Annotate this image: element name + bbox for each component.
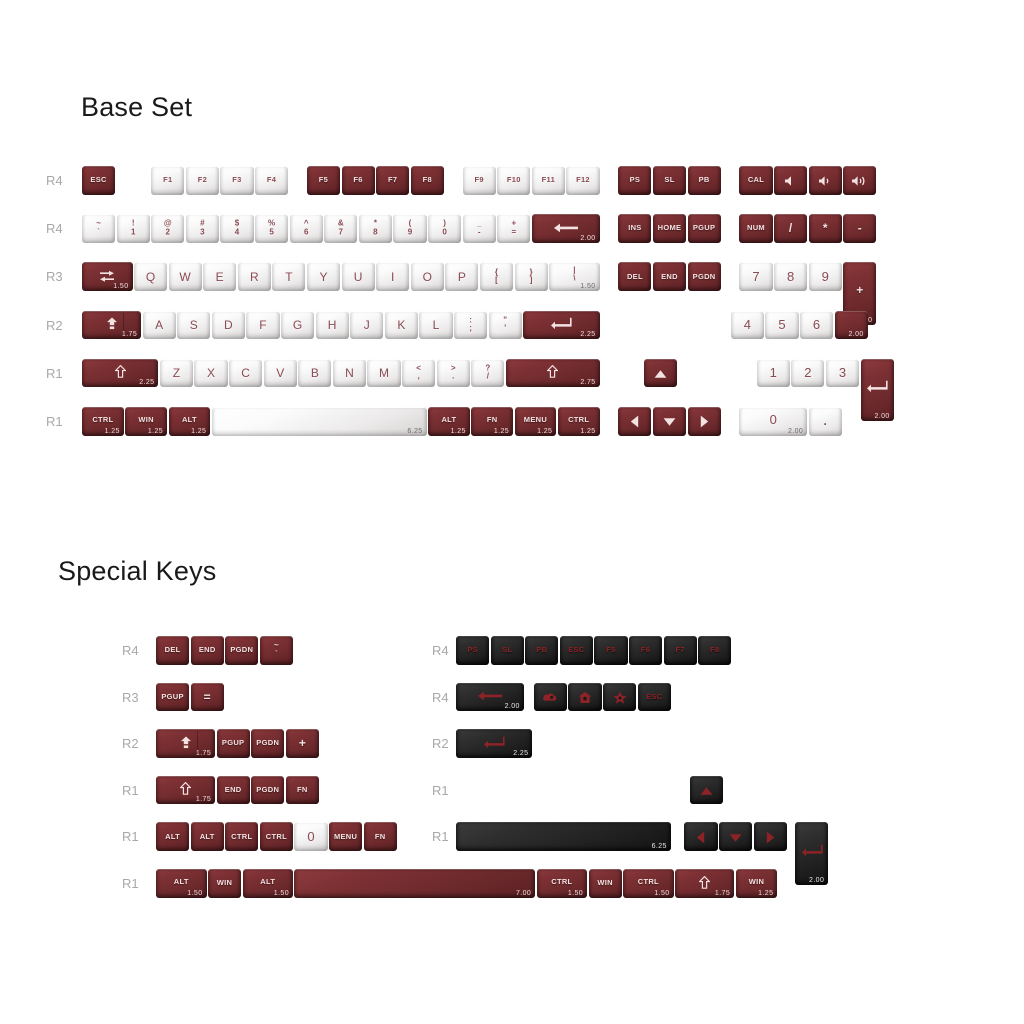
keycap-special-left-end[interactable]: END [191, 636, 224, 665]
keycap-face [156, 776, 215, 805]
keycap-face [364, 822, 397, 851]
keycap-face [350, 311, 383, 340]
keycap-base-d[interactable]: D [212, 311, 245, 340]
row-label-base-4: R1 [46, 366, 72, 381]
keycap-special-right-novelty-star-key[interactable] [603, 683, 636, 712]
keycap-base-5[interactable]: % 5 [255, 214, 288, 243]
row-label-base-2: R3 [46, 269, 72, 284]
keycap-face [618, 166, 651, 195]
keycap-face [359, 214, 392, 243]
keycap-face [156, 869, 207, 898]
keycap-face [809, 166, 842, 195]
keycap-face [217, 729, 250, 758]
keycap-face [835, 311, 868, 340]
keycap-face [795, 822, 828, 884]
keycap-face [653, 214, 686, 243]
keycap-face [739, 407, 807, 436]
keycap-base-alt[interactable]: ALT1.25 [428, 407, 470, 436]
keycap-face [532, 214, 600, 243]
keycap-base-ins[interactable]: INS [618, 214, 651, 243]
keycap-base-x[interactable]: X [194, 359, 227, 388]
keycap-special-right-f5[interactable]: F5 [594, 636, 627, 665]
keycap-special-left-ctrl[interactable]: CTRL [225, 822, 258, 851]
row-label-special-right-1: R4 [432, 690, 458, 705]
keycap-face [456, 729, 532, 758]
keycap-face [826, 359, 859, 388]
keycap-face [719, 822, 752, 851]
keycap-face [264, 359, 297, 388]
keycap-face [843, 214, 876, 243]
keycap-base-arrow-left-key[interactable] [618, 407, 651, 436]
keycap-special-left-pgup[interactable]: PGUP [156, 683, 189, 712]
keycap-base-v[interactable]: V [264, 359, 297, 388]
keycap-special-left-alt[interactable]: ALT1.50 [156, 869, 207, 898]
keycap-base-spacebar[interactable]: _ - [463, 214, 496, 243]
keycap-face [411, 166, 444, 195]
keycap-special-right-arrow-left-key[interactable] [684, 822, 717, 851]
keycap-face [506, 359, 600, 388]
keycap-face [156, 822, 189, 851]
keycap-base-enter-key[interactable]: 2.25 [523, 311, 599, 340]
keycap-face [791, 359, 824, 388]
keycap-face [754, 822, 787, 851]
keycap-base-f1[interactable]: F1 [151, 166, 184, 195]
keycap-base-spacebar[interactable]: { [ [480, 262, 513, 291]
keycap-base-capslock-key[interactable]: 1.75 [82, 311, 141, 340]
keycap-special-left-pgdn[interactable]: PGDN [225, 636, 258, 665]
keycap-face [156, 636, 189, 665]
special-keys-title: Special Keys [58, 556, 216, 587]
keycap-face [212, 311, 245, 340]
keycap-face [537, 869, 588, 898]
keycap-base-7[interactable]: & 7 [324, 214, 357, 243]
keycap-special-left-spacebar[interactable]: ~ ` [260, 636, 293, 665]
keycap-base-y[interactable]: Y [307, 262, 340, 291]
keycap-face [809, 407, 842, 436]
keycap-base-f4[interactable]: F4 [255, 166, 288, 195]
keycap-face [82, 311, 141, 340]
keycap-special-left-del[interactable]: DEL [156, 636, 189, 665]
keycap-face [385, 311, 418, 340]
keycap-base-9[interactable]: ( 9 [393, 214, 426, 243]
keycap-base-num[interactable]: NUM [739, 214, 772, 243]
keycap-base-e[interactable]: E [203, 262, 236, 291]
keycap-face [238, 262, 271, 291]
keycap-base-spacebar[interactable]: ~ ` [82, 214, 115, 243]
keycap-face [229, 359, 262, 388]
keycap-face [566, 166, 599, 195]
keycap-base-f[interactable]: F [246, 311, 279, 340]
keycap-special-left-pgdn[interactable]: PGDN [251, 729, 284, 758]
keycap-face [489, 311, 522, 340]
keycap-base-0[interactable]: ) 0 [428, 214, 461, 243]
keycap-base-6[interactable]: ^ 6 [290, 214, 323, 243]
keycap-face [419, 311, 452, 340]
keycap-special-right-arrow-right-key[interactable] [754, 822, 787, 851]
keycap-base-i[interactable]: I [376, 262, 409, 291]
keycap-special-right-arrow-down-key[interactable] [719, 822, 752, 851]
row-label-base-5: R1 [46, 414, 72, 429]
keycap-face [568, 683, 601, 712]
keycap-base-c[interactable]: C [229, 359, 262, 388]
keycap-base-f2[interactable]: F2 [186, 166, 219, 195]
keycap-face [82, 407, 124, 436]
keycap-step-notch [123, 313, 124, 338]
keycap-base-b[interactable]: B [298, 359, 331, 388]
keycap-base-k[interactable]: K [385, 311, 418, 340]
keycap-special-left-capslock-key[interactable]: 1.75 [156, 729, 215, 758]
keycap-face [765, 311, 798, 340]
keycap-face [774, 262, 807, 291]
keycap-base-7[interactable]: 7 [739, 262, 772, 291]
keycap-base-spacebar[interactable]: : ; [454, 311, 487, 340]
keycap-special-left-pgup[interactable]: PGUP [217, 729, 250, 758]
keycap-special-left-alt[interactable]: ALT [191, 822, 224, 851]
keycap-face [169, 262, 202, 291]
keycap-special-right-arrow-up-key[interactable] [690, 776, 723, 805]
keycap-face [225, 636, 258, 665]
keycap-face [653, 166, 686, 195]
keycap-face [618, 214, 651, 243]
keycap-face [690, 776, 723, 805]
keycap-face [156, 729, 215, 758]
keycap-face [809, 262, 842, 291]
keycap-face [367, 359, 400, 388]
keycap-face [428, 407, 470, 436]
keycap-base-f6[interactable]: F6 [342, 166, 375, 195]
keycap-base-s[interactable]: S [177, 311, 210, 340]
base-set-title: Base Set [81, 92, 192, 123]
keycap-special-right-pb[interactable]: PB [525, 636, 558, 665]
keycap-special-left-ctrl[interactable]: CTRL [260, 822, 293, 851]
keycap-special-right-enter-key[interactable]: 2.25 [456, 729, 532, 758]
keycap-base-4[interactable]: 4 [731, 311, 764, 340]
keycap-base-blank[interactable]: 6.25 [212, 407, 427, 436]
keycap-face [186, 166, 219, 195]
keycap-base-f11[interactable]: F11 [532, 166, 565, 195]
keycap-face [800, 311, 833, 340]
keycap-base-spacebar[interactable]: < , [402, 359, 435, 388]
keycap-base-ps[interactable]: PS [618, 166, 651, 195]
keycap-face [402, 359, 435, 388]
keycap-face [463, 166, 496, 195]
keycap-base-spacebar[interactable]: / [774, 214, 807, 243]
keycap-special-left-ctrl[interactable]: CTRL1.50 [537, 869, 588, 898]
keycap-face [191, 822, 224, 851]
keycap-face [329, 822, 362, 851]
keycap-face [809, 214, 842, 243]
keycap-face [251, 776, 284, 805]
keycap-face [629, 636, 662, 665]
keycap-face [255, 214, 288, 243]
keycap-base-mute-key[interactable] [774, 166, 807, 195]
keycap-special-right-f6[interactable]: F6 [629, 636, 662, 665]
keycap-base-u[interactable]: U [342, 262, 375, 291]
keycap-face [376, 262, 409, 291]
keycap-face [523, 311, 599, 340]
keycap-special-right-esc[interactable]: ESC [638, 683, 671, 712]
keycap-base-ctrl[interactable]: CTRL1.25 [82, 407, 124, 436]
keycap-face [82, 214, 115, 243]
keycap-special-left-fn[interactable]: FN [364, 822, 397, 851]
keycap-base-2[interactable]: @ 2 [151, 214, 184, 243]
keycap-base-w[interactable]: W [169, 262, 202, 291]
keycap-special-left-win[interactable]: WIN [208, 869, 241, 898]
keycap-face [736, 869, 778, 898]
keycap-base-z[interactable]: Z [160, 359, 193, 388]
keycap-base-f8[interactable]: F8 [411, 166, 444, 195]
keycap-base-fn[interactable]: FN1.25 [471, 407, 513, 436]
keycap-face [160, 359, 193, 388]
keycap-face [731, 311, 764, 340]
keycap-base-spacebar[interactable]: - [843, 214, 876, 243]
keycap-face [515, 407, 557, 436]
keycap-face [212, 407, 427, 436]
keycap-base-pgdn[interactable]: PGDN [688, 262, 721, 291]
row-label-special-right-0: R4 [432, 643, 458, 658]
keycap-base-8[interactable]: * 8 [359, 214, 392, 243]
keycap-face [125, 407, 167, 436]
keycap-face [454, 311, 487, 340]
keycap-base-n[interactable]: N [333, 359, 366, 388]
row-label-special-left-1: R3 [122, 690, 148, 705]
keycap-face [558, 407, 600, 436]
keycap-base-shift-key[interactable]: 2.75 [506, 359, 600, 388]
keycap-special-right-f8[interactable]: F8 [698, 636, 731, 665]
keycap-base-8[interactable]: 8 [774, 262, 807, 291]
keycap-face [688, 166, 721, 195]
keycap-base-end[interactable]: END [653, 262, 686, 291]
row-label-special-right-2: R2 [432, 736, 458, 751]
keycap-base-m[interactable]: M [367, 359, 400, 388]
keycap-base-tab-key[interactable]: 1.50 [82, 262, 133, 291]
keycap-base-t[interactable]: T [272, 262, 305, 291]
keycap-special-left-alt[interactable]: ALT [156, 822, 189, 851]
keycap-face [255, 166, 288, 195]
keycap-face [603, 683, 636, 712]
keycap-face [260, 822, 293, 851]
keycap-special-right-ps[interactable]: PS [456, 636, 489, 665]
keycap-base-0[interactable]: 02.00 [739, 407, 807, 436]
keycap-base-a[interactable]: A [143, 311, 176, 340]
keycap-face [698, 636, 731, 665]
keycap-base-sl[interactable]: SL [653, 166, 686, 195]
keycap-special-left-end[interactable]: END [217, 776, 250, 805]
keycap-face [757, 359, 790, 388]
keycap-face [471, 359, 504, 388]
keycap-base-q[interactable]: Q [134, 262, 167, 291]
keycap-face [480, 262, 513, 291]
keycap-face [525, 636, 558, 665]
keycap-face [82, 166, 115, 195]
keycap-face [151, 214, 184, 243]
keycap-face [134, 262, 167, 291]
keycap-special-left-spacebar[interactable]: = [191, 683, 224, 712]
keycap-face [220, 166, 253, 195]
keycap-special-left-spacebar[interactable]: + [286, 729, 319, 758]
keycap-face [739, 166, 772, 195]
keycap-base-3[interactable]: # 3 [186, 214, 219, 243]
keycap-base-j[interactable]: J [350, 311, 383, 340]
keycap-face [286, 729, 319, 758]
keycap-base-win[interactable]: WIN1.25 [125, 407, 167, 436]
keycap-base-f10[interactable]: F10 [497, 166, 530, 195]
keycap-face [286, 776, 319, 805]
keycap-base-cal[interactable]: CAL [739, 166, 772, 195]
keycap-base-spacebar[interactable]: " ' [489, 311, 522, 340]
keycap-special-right-blank[interactable]: 6.25 [456, 822, 671, 851]
keycap-face [203, 262, 236, 291]
keycap-base-blank[interactable]: 2.00 [835, 311, 868, 340]
keycap-face [191, 636, 224, 665]
keycap-base-o[interactable]: O [411, 262, 444, 291]
keycap-base-9[interactable]: 9 [809, 262, 842, 291]
keycap-base-g[interactable]: G [281, 311, 314, 340]
keycap-base-arrow-right-key[interactable] [688, 407, 721, 436]
keycap-special-left-0[interactable]: 0 [294, 822, 327, 851]
keycap-base-f12[interactable]: F12 [566, 166, 599, 195]
keycap-base-f7[interactable]: F7 [376, 166, 409, 195]
keycap-base-pgup[interactable]: PGUP [688, 214, 721, 243]
keycap-face [437, 359, 470, 388]
keycap-face [589, 869, 622, 898]
keycap-face [294, 869, 535, 898]
keycap-face [684, 822, 717, 851]
keycap-base-f9[interactable]: F9 [463, 166, 496, 195]
keycap-face [169, 407, 211, 436]
keycap-special-right-esc[interactable]: ESC [560, 636, 593, 665]
keycap-face [549, 262, 600, 291]
keycap-base-1[interactable]: ! 1 [117, 214, 150, 243]
keycap-special-left-shift-key[interactable]: 1.75 [156, 776, 215, 805]
keycap-special-right-novelty-cloud-key[interactable] [534, 683, 567, 712]
keycap-face [534, 683, 567, 712]
keycap-base-l[interactable]: L [419, 311, 452, 340]
keycap-special-left-win[interactable]: WIN [589, 869, 622, 898]
row-label-special-right-3: R1 [432, 783, 458, 798]
keycap-base-shift-key[interactable]: 2.25 [82, 359, 158, 388]
keycap-face [246, 311, 279, 340]
keycap-face [497, 166, 530, 195]
keycap-face [560, 636, 593, 665]
keycap-base-r[interactable]: R [238, 262, 271, 291]
keycap-face [653, 407, 686, 436]
keycap-base-spacebar[interactable]: } ] [515, 262, 548, 291]
keycap-base-spacebar[interactable]: + = [497, 214, 530, 243]
keycap-face [156, 683, 189, 712]
keycap-base-5[interactable]: 5 [765, 311, 798, 340]
keycap-face [82, 359, 158, 388]
keycap-base-vol-up-key[interactable] [843, 166, 876, 195]
keycap-base-alt[interactable]: ALT1.25 [169, 407, 211, 436]
row-label-base-0: R4 [46, 173, 72, 188]
keycap-base-f3[interactable]: F3 [220, 166, 253, 195]
keycap-base-pb[interactable]: PB [688, 166, 721, 195]
keycap-face [324, 214, 357, 243]
keycap-face [393, 214, 426, 243]
keycap-special-right-enter-key[interactable]: 2.00 [795, 822, 828, 884]
keycap-base-esc[interactable]: ESC [82, 166, 115, 195]
keycap-special-left-win[interactable]: WIN1.25 [736, 869, 778, 898]
keycap-base-4[interactable]: $ 4 [220, 214, 253, 243]
keycap-base-ctrl[interactable]: CTRL1.25 [558, 407, 600, 436]
keycap-face [298, 359, 331, 388]
keycap-face [177, 311, 210, 340]
keycap-face [664, 636, 697, 665]
keycap-base-spacebar[interactable]: > . [437, 359, 470, 388]
keycap-special-right-sl[interactable]: SL [491, 636, 524, 665]
keycap-face [618, 407, 651, 436]
keycap-special-left-shift-key[interactable]: 1.75 [675, 869, 734, 898]
keycap-face [653, 262, 686, 291]
keycap-base-vol-down-key[interactable] [809, 166, 842, 195]
row-label-special-left-2: R2 [122, 736, 148, 751]
keycap-face [294, 822, 327, 851]
keycap-face [644, 359, 677, 388]
keycap-special-right-novelty-house-key[interactable] [568, 683, 601, 712]
keycap-base-spacebar[interactable]: . [809, 407, 842, 436]
keycap-base-enter-key[interactable]: 2.00 [861, 359, 894, 421]
keycap-face [618, 262, 651, 291]
keycap-base-3[interactable]: 3 [826, 359, 859, 388]
keycap-face [191, 683, 224, 712]
keycap-base-f5[interactable]: F5 [307, 166, 340, 195]
keycap-face [638, 683, 671, 712]
row-label-special-left-5: R1 [122, 876, 148, 891]
keycap-face [272, 262, 305, 291]
keycap-base-arrow-down-key[interactable] [653, 407, 686, 436]
keycap-face [342, 262, 375, 291]
keycap-face [194, 359, 227, 388]
keycap-face [307, 166, 340, 195]
keycap-special-left-alt[interactable]: ALT1.50 [243, 869, 294, 898]
keycap-special-right-backspace-key[interactable]: 2.00 [456, 683, 524, 712]
keycap-face [491, 636, 524, 665]
row-label-special-right-4: R1 [432, 829, 458, 844]
keycap-special-left-menu[interactable]: MENU [329, 822, 362, 851]
keycap-face [333, 359, 366, 388]
keycap-face [208, 869, 241, 898]
keycap-base-spacebar[interactable]: * [809, 214, 842, 243]
keycap-face [456, 683, 524, 712]
keycap-face [471, 407, 513, 436]
keycap-special-left-ctrl[interactable]: CTRL1.50 [623, 869, 674, 898]
keycap-base-spacebar[interactable]: | \1.50 [549, 262, 600, 291]
keycap-special-left-fn[interactable]: FN [286, 776, 319, 805]
keycap-face [376, 166, 409, 195]
keycap-base-1[interactable]: 1 [757, 359, 790, 388]
keycap-base-backspace-key[interactable]: 2.00 [532, 214, 600, 243]
keycap-base-h[interactable]: H [316, 311, 349, 340]
keycap-special-right-f7[interactable]: F7 [664, 636, 697, 665]
keycap-special-left-blank[interactable]: 7.00 [294, 869, 535, 898]
keycap-base-2[interactable]: 2 [791, 359, 824, 388]
keycap-face [456, 822, 671, 851]
keycap-base-arrow-up-key[interactable] [644, 359, 677, 388]
keycap-base-home[interactable]: HOME [653, 214, 686, 243]
row-label-base-3: R2 [46, 318, 72, 333]
keycap-special-left-pgdn[interactable]: PGDN [251, 776, 284, 805]
keycap-base-del[interactable]: DEL [618, 262, 651, 291]
keycap-base-menu[interactable]: MENU1.25 [515, 407, 557, 436]
keycap-base-p[interactable]: P [445, 262, 478, 291]
keycap-face [843, 166, 876, 195]
keycap-base-spacebar[interactable]: ? / [471, 359, 504, 388]
keycap-face [594, 636, 627, 665]
keycap-face [151, 166, 184, 195]
keycap-base-6[interactable]: 6 [800, 311, 833, 340]
keycap-face [456, 636, 489, 665]
